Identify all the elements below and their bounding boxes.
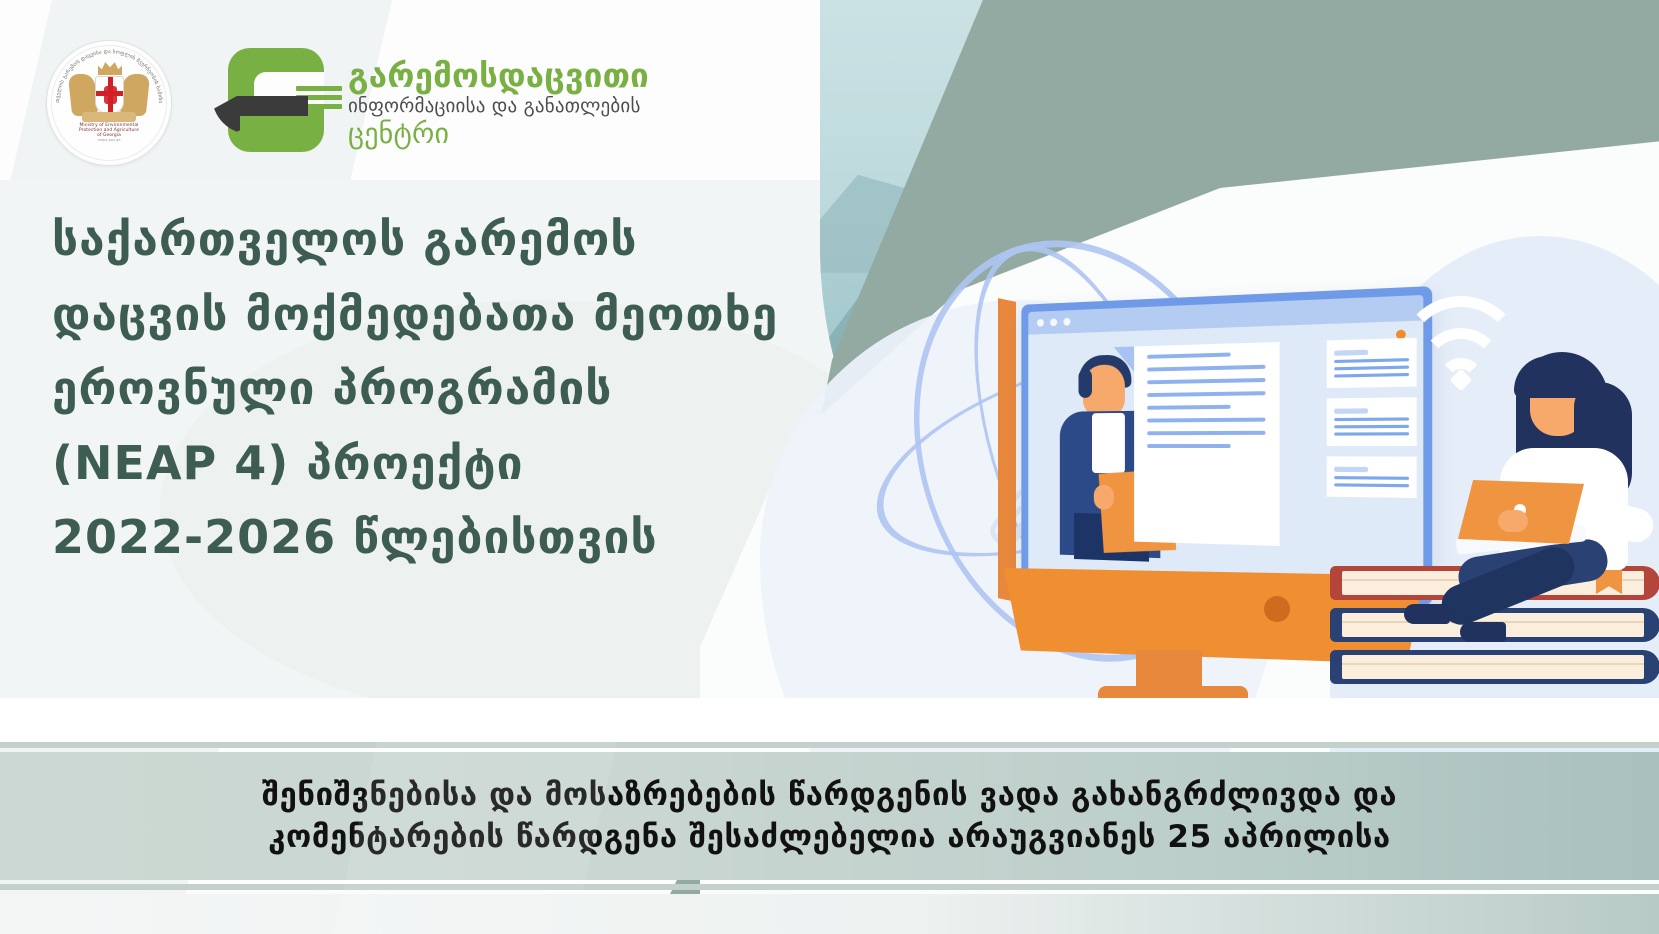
person-hair-side bbox=[1079, 369, 1092, 398]
banner-line-2: კომენტარების წარდგენა შესაძლებელია არაუგ… bbox=[268, 819, 1391, 855]
document-card bbox=[1327, 456, 1417, 498]
emblem-lion-left bbox=[68, 74, 98, 116]
card-heading-line bbox=[1334, 350, 1368, 356]
doc-line bbox=[1147, 391, 1265, 397]
card-heading-line bbox=[1334, 467, 1368, 472]
doc-line bbox=[1147, 405, 1230, 410]
banner-line-1: შენიშვნებისა და მოსაზრებების წარდგენის ვ… bbox=[262, 777, 1397, 813]
monitor-knob-icon bbox=[1264, 596, 1290, 622]
card-line bbox=[1334, 425, 1409, 429]
window-dot-icon bbox=[1037, 319, 1044, 327]
shield-saint-george-icon bbox=[104, 86, 117, 104]
logo-row: საქართველოს გარემოს დაცვისა და სოფლის მე… bbox=[46, 40, 649, 166]
doc-line bbox=[1147, 378, 1265, 384]
card-heading-line bbox=[1334, 408, 1368, 414]
deadline-banner: შენიშვნებისა და მოსაზრებების წარდგენის ვ… bbox=[0, 698, 1659, 934]
card-line bbox=[1334, 483, 1409, 487]
woman-shoe-2 bbox=[1460, 622, 1506, 642]
document-card bbox=[1327, 397, 1417, 446]
headline-line-3: ეროვნული პროგრამის bbox=[52, 351, 752, 426]
desktop-monitor bbox=[1004, 296, 1424, 596]
card-line bbox=[1334, 417, 1409, 421]
window-dot-icon bbox=[1063, 318, 1070, 326]
doc-line bbox=[1147, 365, 1265, 372]
banner-footer-strip bbox=[0, 894, 1659, 934]
headline-line-5: 2022-2026 წლებისთვის bbox=[52, 500, 752, 575]
eiec-line1: გარემოსდაცვითი bbox=[348, 59, 649, 92]
banner-top-space bbox=[0, 698, 1659, 742]
doc-line bbox=[1147, 353, 1230, 359]
headline-line-1: საქართველოს გარემოს bbox=[52, 202, 752, 277]
monitor-screen bbox=[1028, 295, 1423, 597]
card-line bbox=[1334, 432, 1409, 435]
browser-titlebar bbox=[1028, 295, 1423, 335]
emblem-english-caption: Ministry of Environmental Protection and… bbox=[64, 124, 154, 143]
monitor-frame bbox=[1021, 286, 1432, 606]
woman-hand bbox=[1498, 510, 1528, 532]
document-page bbox=[1134, 342, 1279, 546]
person-shirt bbox=[1092, 413, 1125, 473]
ministry-emblem-logo: საქართველოს გარემოს დაცვისა და სოფლის მე… bbox=[46, 40, 172, 166]
emblem-ribbon bbox=[82, 112, 136, 122]
book-blue-2 bbox=[1330, 650, 1659, 684]
banner-divider-top bbox=[0, 742, 1659, 748]
card-line bbox=[1334, 476, 1409, 480]
emblem-lion-right bbox=[120, 74, 150, 116]
eiec-wordmark: გარემოსდაცვითი ინფორმაციისა და განათლები… bbox=[348, 59, 649, 148]
headline-line-2: დაცვის მოქმედებათა მეოთხე bbox=[52, 277, 752, 352]
eiec-line2: ინფორმაციისა და განათლების bbox=[348, 97, 649, 116]
headline-line-4: (NEAP 4) პროექტი bbox=[52, 426, 752, 501]
eiec-bar bbox=[296, 86, 342, 91]
emblem-shield-icon bbox=[95, 76, 124, 114]
banner-divider-bottom bbox=[0, 884, 1659, 890]
emblem-url: mepa.gov.ge bbox=[64, 139, 154, 143]
page-fold-icon bbox=[1114, 346, 1134, 372]
eiec-logo: გარემოსდაცვითი ინფორმაციისა და განათლები… bbox=[228, 48, 649, 158]
woman-shoe bbox=[1404, 604, 1450, 624]
eiec-line3: ცენტრი bbox=[348, 120, 649, 148]
person-hand bbox=[1094, 485, 1114, 510]
doc-line bbox=[1147, 444, 1230, 448]
poster-root: საქართველოს გარემოს დაცვისა და სოფლის მე… bbox=[0, 0, 1659, 934]
book-pages bbox=[1342, 655, 1644, 679]
eiec-book-logo-icon bbox=[228, 48, 334, 158]
banner-content: შენიშვნებისა და მოსაზრებების წარდგენის ვ… bbox=[0, 752, 1659, 880]
doc-line bbox=[1147, 418, 1265, 423]
window-dot-icon bbox=[1050, 318, 1057, 326]
page-title: საქართველოს გარემოს დაცვის მოქმედებათა მ… bbox=[52, 202, 752, 575]
doc-line bbox=[1147, 431, 1265, 435]
woman-with-laptop bbox=[1452, 352, 1659, 652]
